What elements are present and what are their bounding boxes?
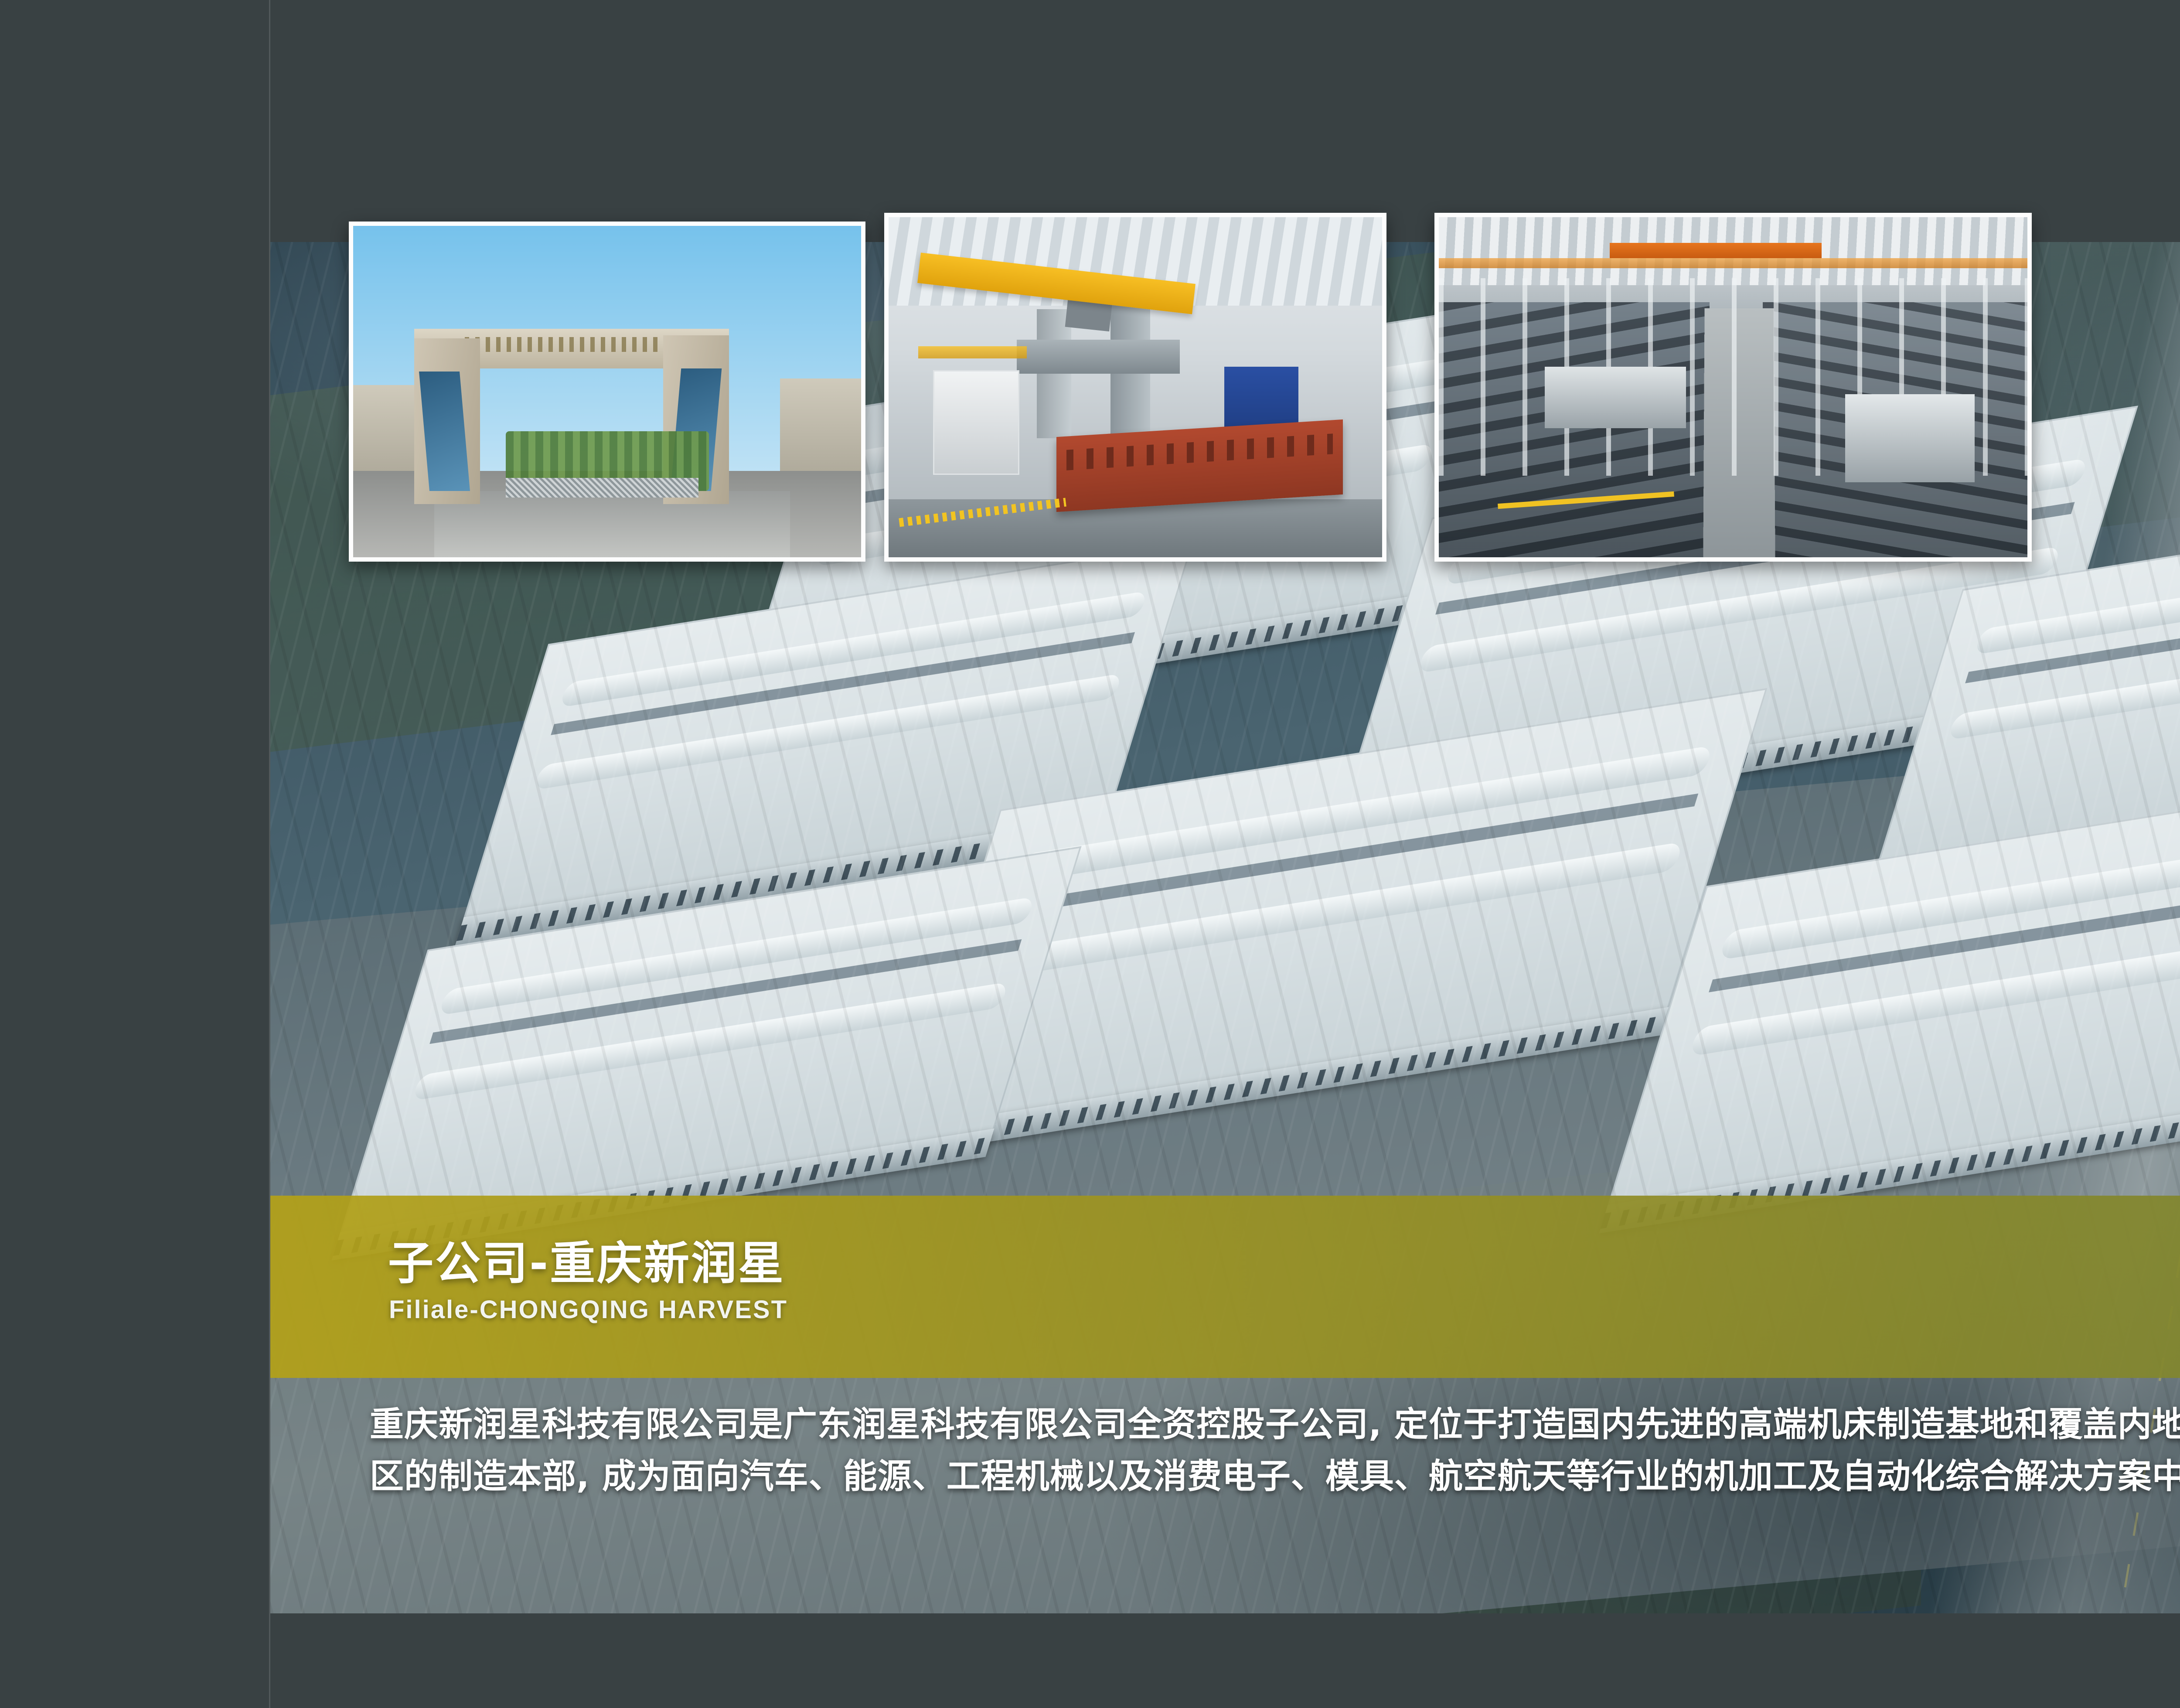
banner-title-cn: 子公司-重庆新润星 [388, 1226, 785, 1292]
banner-title-en: Filiale-CHONGQING HARVEST [389, 1295, 788, 1324]
gallery-thumb-workshop[interactable] [1434, 213, 2032, 562]
subsidiary-banner-text: 子公司-重庆新润星 Filiale-CHONGQING HARVEST [270, 1196, 2180, 1378]
gallery-thumb-entrance[interactable] [349, 222, 865, 562]
gallery-thumb-machine-shop[interactable] [884, 213, 1386, 562]
company-description: 重庆新润星科技有限公司是广东润星科技有限公司全资控股子公司, 定位于打造国内先进… [370, 1399, 2180, 1502]
slide-root: 子公司-重庆新润星 Filiale-CHONGQING HARVEST 重庆新润… [0, 0, 2180, 1708]
